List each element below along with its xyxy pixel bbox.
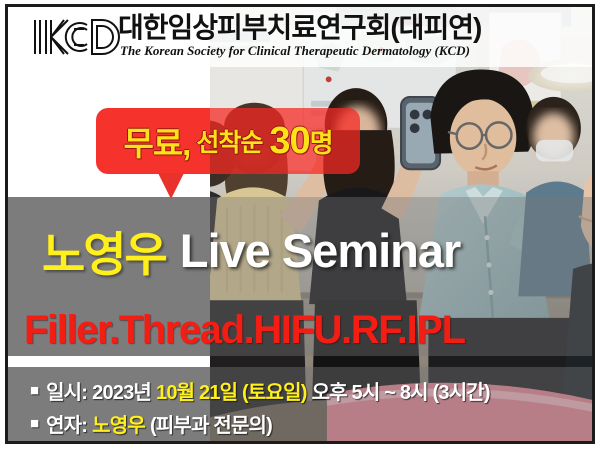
organization-title-ko: 대한임상피부치료연구회(대피연) — [118, 13, 481, 42]
seminar-poster: 대한임상피부치료연구회(대피연) The Korean Society for … — [0, 0, 600, 450]
info-rows: ■ 일시: 2023년 10월 21일 (토요일) 오후 5시 ~ 8시 (3시… — [8, 367, 592, 443]
badge-seat-count: 30 — [269, 120, 309, 163]
date-time: 오후 5시 ~ 8시 (3시간) — [312, 376, 490, 405]
kcd-logo — [30, 15, 122, 59]
poster-frame: 대한임상피부치료연구회(대피연) The Korean Society for … — [5, 4, 595, 444]
info-row-date: ■ 일시: 2023년 10월 21일 (토요일) 오후 5시 ~ 8시 (3시… — [30, 374, 592, 407]
bullet-icon: ■ — [30, 383, 39, 398]
headline-speaker-name: 노영우 — [42, 216, 166, 285]
info-row-speaker: ■ 연자: 노영우 (피부과 전문의) — [30, 407, 592, 440]
date-label: 일시: — [46, 376, 87, 405]
free-badge-text: 무료, 선착순 30 명 — [96, 108, 360, 174]
badge-people-unit: 명 — [310, 123, 333, 160]
date-year: 2023년 — [92, 376, 151, 405]
badge-first-come-label: 선착순 — [196, 123, 262, 159]
organization-title-en: The Korean Society for Clinical Therapeu… — [120, 43, 470, 59]
speaker-name: 노영우 — [92, 409, 145, 438]
kcd-logo-mark — [30, 15, 122, 59]
headline-event-type: Live Seminar — [180, 223, 461, 278]
bullet-icon: ■ — [30, 416, 39, 431]
topics-text: Filler.Thread.HIFU.RF.IPL — [24, 308, 465, 353]
headline: 노영우 Live Seminar — [8, 219, 592, 281]
free-badge-bubble-tail — [158, 173, 184, 199]
speaker-credential: (피부과 전문의) — [150, 409, 272, 438]
date-highlight: 10월 21일 (토요일) — [156, 376, 307, 405]
badge-free-label: 무료, — [123, 117, 190, 165]
speaker-label: 연자: — [46, 409, 87, 438]
topics-line: Filler.Thread.HIFU.RF.IPL — [8, 307, 592, 353]
